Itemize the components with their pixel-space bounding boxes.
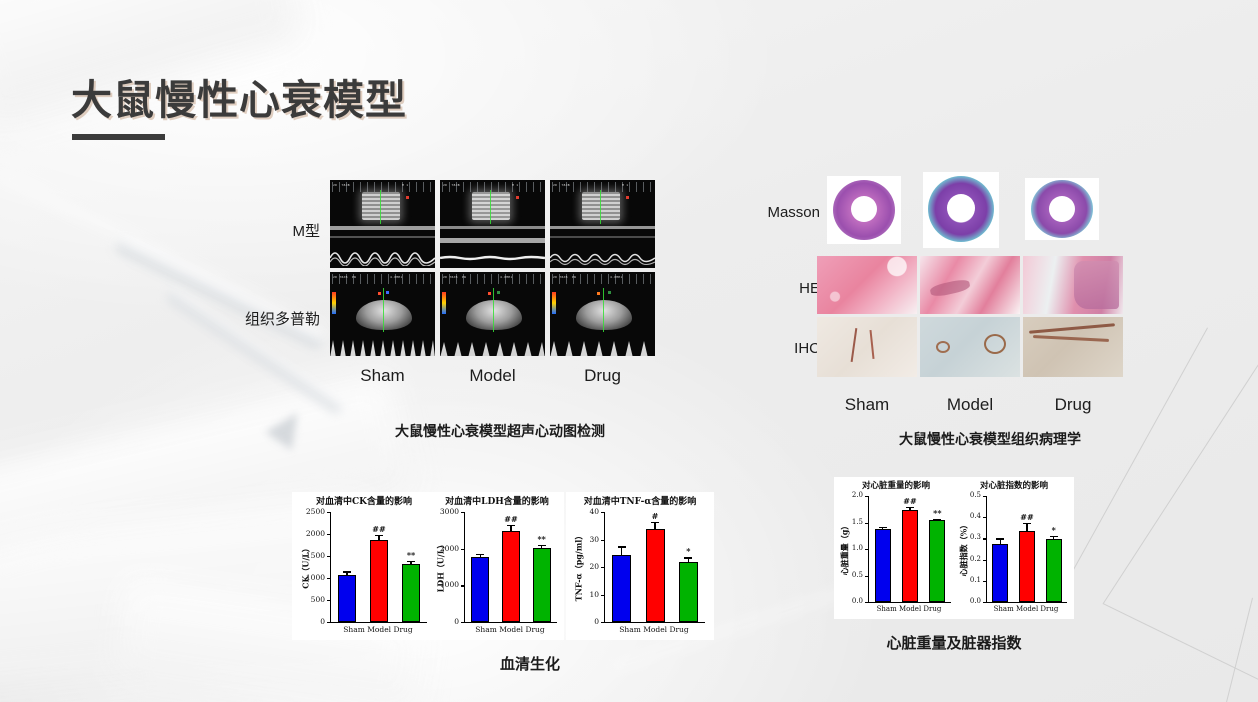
chart-y-tick bbox=[983, 538, 987, 539]
chart-error-cap bbox=[407, 561, 415, 562]
chart-y-tick-label: 40 bbox=[559, 507, 599, 516]
chart-x-tick-labels: Sham Model Drug bbox=[330, 625, 426, 634]
chart-y-tick bbox=[983, 560, 987, 561]
chart-y-tick-label: 0.1 bbox=[941, 576, 981, 584]
chart-error-cap bbox=[906, 507, 914, 508]
chart-significance-marker: # bbox=[643, 511, 667, 521]
echo-image-m-mode-model: 2D 78dB M 1 bbox=[440, 180, 545, 268]
chart-y-tick bbox=[865, 549, 869, 550]
chart-y-axis-label: CK（U/L） bbox=[301, 512, 312, 622]
echo-col-label-sham: Sham bbox=[330, 366, 435, 386]
chart-x-tick-labels: Sham Model Drug bbox=[868, 605, 950, 613]
histo-col-label-sham: Sham bbox=[817, 395, 917, 415]
chart-y-tick-label: 0.5 bbox=[823, 571, 863, 579]
chart-error-bar bbox=[621, 546, 622, 554]
chart-bar bbox=[338, 575, 356, 622]
chart-y-tick-label: 3000 bbox=[419, 507, 459, 516]
title-underline bbox=[72, 134, 165, 140]
chart-plot-area: 0.00.10.20.30.40.5##* bbox=[986, 496, 1067, 603]
chart-bar bbox=[471, 557, 489, 622]
chart-y-tick-label: 0 bbox=[419, 617, 459, 626]
chart-bar bbox=[612, 555, 631, 622]
chart-error-cap bbox=[1050, 536, 1058, 537]
histo-col-label-drug: Drug bbox=[1023, 395, 1123, 415]
chart-y-tick bbox=[865, 602, 869, 603]
chart-y-tick-label: 0.3 bbox=[941, 533, 981, 541]
chart-bar bbox=[875, 529, 891, 602]
serum-panel-caption: 血清生化 bbox=[430, 653, 630, 674]
chart-bar bbox=[992, 544, 1008, 602]
chart-title: 对血清中LDH含量的影响 bbox=[432, 494, 562, 507]
chart-title: 对心脏指数的影响 bbox=[956, 479, 1072, 491]
chart-y-tick-label: 0.2 bbox=[941, 555, 981, 563]
chart-y-tick-label: 2000 bbox=[285, 529, 325, 538]
chart-x-tick-labels: Sham Model Drug bbox=[464, 625, 556, 634]
chart-y-tick-label: 1.0 bbox=[823, 544, 863, 552]
chart-y-tick-label: 0 bbox=[559, 617, 599, 626]
chart-y-tick bbox=[865, 496, 869, 497]
chart-error-cap bbox=[507, 525, 515, 526]
histo-image-he-model bbox=[920, 256, 1020, 314]
chart-y-tick-label: 0.5 bbox=[941, 491, 981, 499]
chart-title: 对血清中TNF-α含量的影响 bbox=[568, 494, 712, 507]
chart-error-cap bbox=[375, 535, 383, 536]
chart-tnfa: 对血清中TNF-α含量的影响TNF-α（pg/ml）010203040#*Sha… bbox=[568, 494, 712, 638]
heart-chart-card: 对心脏重量的影响心脏重量（g）0.00.51.01.52.0##**Sham M… bbox=[834, 477, 1074, 619]
echo-col-label-model: Model bbox=[440, 366, 545, 386]
chart-significance-marker: ## bbox=[367, 524, 391, 534]
chart-y-tick bbox=[601, 622, 605, 623]
chart-error-cap bbox=[996, 538, 1004, 539]
chart-y-tick bbox=[601, 540, 605, 541]
chart-bar bbox=[402, 564, 420, 622]
echo-image-doppler-sham: 2D 78dB PW 4.0MHz bbox=[330, 272, 435, 360]
chart-y-tick-label: 1.5 bbox=[823, 518, 863, 526]
chart-significance-marker: ## bbox=[898, 496, 922, 506]
chart-y-tick-label: 1000 bbox=[419, 580, 459, 589]
chart-y-tick bbox=[983, 496, 987, 497]
chart-significance-marker: ## bbox=[1015, 512, 1039, 522]
chart-bar bbox=[902, 510, 918, 602]
chart-y-tick bbox=[983, 517, 987, 518]
chart-y-tick bbox=[983, 602, 987, 603]
echo-image-doppler-model: 2D 78dB PW 4.0MHz bbox=[440, 272, 545, 360]
chart-y-tick-label: 500 bbox=[285, 595, 325, 604]
serum-chart-card-right: 对血清中TNF-α含量的影响TNF-α（pg/ml）010203040#*Sha… bbox=[566, 492, 714, 640]
chart-heart-weight: 对心脏重量的影响心脏重量（g）0.00.51.01.52.0##**Sham M… bbox=[836, 479, 956, 617]
chart-x-tick-labels: Sham Model Drug bbox=[604, 625, 704, 634]
chart-plot-area: 010203040#* bbox=[604, 512, 705, 623]
histo-image-ihc-sham bbox=[817, 317, 917, 377]
chart-error-bar bbox=[1026, 523, 1027, 531]
histo-row-label-he: HE bbox=[735, 280, 820, 297]
chart-error-cap bbox=[618, 546, 626, 547]
chart-y-tick bbox=[327, 600, 331, 601]
histo-image-masson-sham bbox=[827, 176, 901, 244]
chart-plot-area: 0100020003000##** bbox=[464, 512, 557, 623]
serum-chart-card-left: 对血清中CK含量的影响CK（U/L）05001000150020002500##… bbox=[292, 492, 564, 640]
chart-y-tick bbox=[327, 534, 331, 535]
chart-y-axis-label: LDH（U/L） bbox=[436, 512, 447, 622]
chart-error-cap bbox=[538, 545, 546, 546]
chart-y-tick-label: 1500 bbox=[285, 551, 325, 560]
chart-y-tick-label: 0 bbox=[285, 617, 325, 626]
chart-plot-area: 05001000150020002500##** bbox=[330, 512, 427, 623]
chart-y-tick bbox=[461, 622, 465, 623]
chart-error-cap bbox=[684, 557, 692, 558]
chart-y-tick-label: 30 bbox=[559, 535, 599, 544]
histo-image-he-drug bbox=[1023, 256, 1123, 314]
histo-image-he-sham bbox=[817, 256, 917, 314]
echo-image-m-mode-drug: 2D 78dB M 1 bbox=[550, 180, 655, 268]
chart-y-tick bbox=[461, 549, 465, 550]
chart-y-tick bbox=[865, 523, 869, 524]
chart-error-cap bbox=[651, 522, 659, 523]
histo-col-label-model: Model bbox=[920, 395, 1020, 415]
echo-row-label-m-mode: M型 bbox=[230, 220, 320, 241]
histo-row-label-masson: Masson bbox=[735, 204, 820, 221]
chart-y-tick bbox=[327, 622, 331, 623]
echocardiography-panel: M型 组织多普勒 2D 78dB M 1 2D 78dB M 1 2D 78dB… bbox=[230, 180, 680, 430]
chart-y-tick bbox=[865, 576, 869, 577]
chart-heart-index: 对心脏指数的影响心脏指数（%）0.00.10.20.30.40.5##*Sham… bbox=[956, 479, 1072, 617]
echo-row-label-tissue-doppler: 组织多普勒 bbox=[224, 308, 320, 329]
chart-significance-marker: * bbox=[676, 546, 700, 556]
chart-y-tick-label: 10 bbox=[559, 590, 599, 599]
chart-bar bbox=[1046, 539, 1062, 602]
chart-y-tick bbox=[327, 512, 331, 513]
chart-bar bbox=[502, 531, 520, 622]
chart-y-tick-label: 0.4 bbox=[941, 512, 981, 520]
chart-y-tick bbox=[461, 585, 465, 586]
chart-y-tick bbox=[601, 595, 605, 596]
chart-y-tick-label: 2500 bbox=[285, 507, 325, 516]
page-title: 大鼠慢性心衰模型 bbox=[71, 66, 407, 126]
chart-bar bbox=[533, 548, 551, 622]
chart-bar bbox=[646, 529, 665, 623]
chart-y-tick bbox=[327, 578, 331, 579]
chart-y-tick-label: 2.0 bbox=[823, 491, 863, 499]
chart-bar bbox=[1019, 531, 1035, 602]
chart-significance-marker: ** bbox=[530, 534, 554, 544]
chart-bar bbox=[679, 562, 698, 623]
chart-significance-marker: * bbox=[1042, 525, 1066, 535]
chart-y-tick-label: 0.0 bbox=[941, 597, 981, 605]
chart-error-cap bbox=[1023, 523, 1031, 524]
chart-title: 对心脏重量的影响 bbox=[836, 479, 956, 491]
chart-bar bbox=[370, 540, 388, 622]
histopathology-panel: Masson HE IHC Sham Model Drug bbox=[745, 172, 1120, 422]
chart-error-cap bbox=[476, 554, 484, 555]
histo-row-label-ihc: IHC bbox=[735, 340, 820, 357]
chart-y-tick bbox=[601, 567, 605, 568]
chart-ldh: 对血清中LDH含量的影响LDH（U/L）0100020003000##**Sha… bbox=[432, 494, 562, 638]
histology-panel-caption: 大鼠慢性心衰模型组织病理学 bbox=[800, 429, 1180, 449]
chart-title: 对血清中CK含量的影响 bbox=[296, 494, 432, 507]
heart-panel-caption: 心脏重量及脏器指数 bbox=[854, 632, 1054, 653]
echo-col-label-drug: Drug bbox=[550, 366, 655, 386]
echo-image-doppler-drug: 2D 78dB PW 4.0MHz bbox=[550, 272, 655, 360]
histo-image-masson-model bbox=[923, 172, 999, 248]
histo-image-ihc-model bbox=[920, 317, 1020, 377]
histo-image-ihc-drug bbox=[1023, 317, 1123, 377]
chart-x-tick-labels: Sham Model Drug bbox=[986, 605, 1066, 613]
chart-y-tick bbox=[983, 581, 987, 582]
chart-plot-area: 0.00.51.01.52.0##** bbox=[868, 496, 951, 603]
echo-image-m-mode-sham: 2D 78dB M 1 bbox=[330, 180, 435, 268]
chart-y-tick bbox=[327, 556, 331, 557]
chart-y-tick-label: 0.0 bbox=[823, 597, 863, 605]
chart-y-tick bbox=[461, 512, 465, 513]
chart-y-tick-label: 2000 bbox=[419, 544, 459, 553]
chart-error-cap bbox=[879, 527, 887, 528]
chart-y-tick bbox=[601, 512, 605, 513]
chart-y-tick-label: 20 bbox=[559, 562, 599, 571]
chart-y-tick-label: 1000 bbox=[285, 573, 325, 582]
chart-ck: 对血清中CK含量的影响CK（U/L）05001000150020002500##… bbox=[296, 494, 432, 638]
histo-image-masson-drug bbox=[1025, 178, 1099, 240]
chart-significance-marker: ## bbox=[499, 514, 523, 524]
chart-error-cap bbox=[343, 571, 351, 572]
